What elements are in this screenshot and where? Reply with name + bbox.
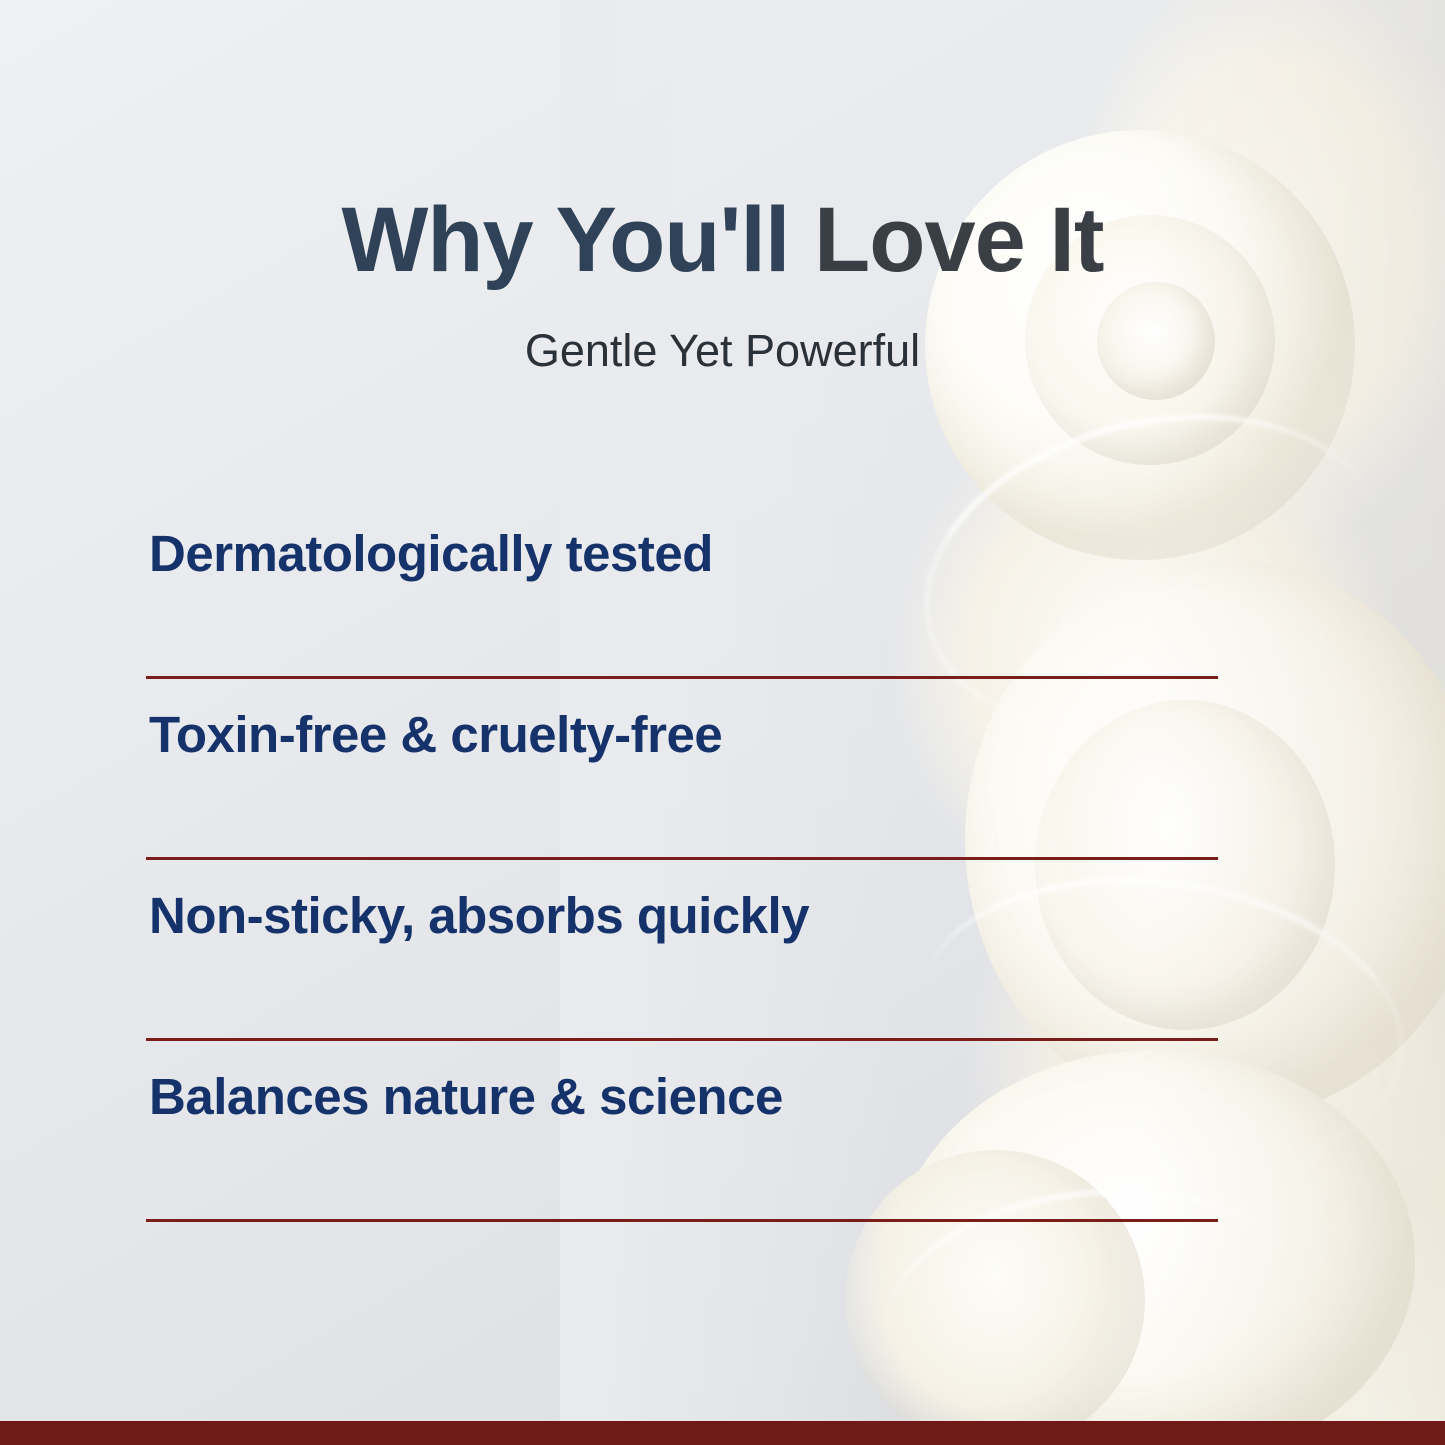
benefit-divider-3 bbox=[146, 1038, 1218, 1041]
poster-canvas: Why You'll Love It Gentle Yet Powerful D… bbox=[0, 0, 1445, 1445]
benefit-divider-4 bbox=[146, 1219, 1218, 1222]
page-title-part-b: Love It bbox=[814, 189, 1103, 291]
list-item: Dermatologically tested bbox=[146, 524, 1218, 705]
list-item: Balances nature & science bbox=[146, 1067, 1218, 1248]
benefit-label-4: Balances nature & science bbox=[149, 1067, 783, 1126]
list-item: Non-sticky, absorbs quickly bbox=[146, 886, 1218, 1067]
benefits-list: Dermatologically tested Toxin-free & cru… bbox=[146, 524, 1218, 1248]
benefit-divider-2 bbox=[146, 857, 1218, 860]
benefit-divider-1 bbox=[146, 676, 1218, 679]
benefit-label-3: Non-sticky, absorbs quickly bbox=[149, 886, 809, 945]
page-subtitle: Gentle Yet Powerful bbox=[0, 325, 1445, 377]
benefit-label-2: Toxin-free & cruelty-free bbox=[149, 705, 722, 764]
poster-content: Why You'll Love It Gentle Yet Powerful D… bbox=[0, 0, 1445, 1445]
list-item: Toxin-free & cruelty-free bbox=[146, 705, 1218, 886]
page-title-part-a: Why You'll bbox=[341, 189, 789, 291]
benefit-label-1: Dermatologically tested bbox=[149, 524, 713, 583]
bottom-accent-bar bbox=[0, 1421, 1445, 1445]
page-title: Why You'll Love It bbox=[0, 192, 1445, 289]
